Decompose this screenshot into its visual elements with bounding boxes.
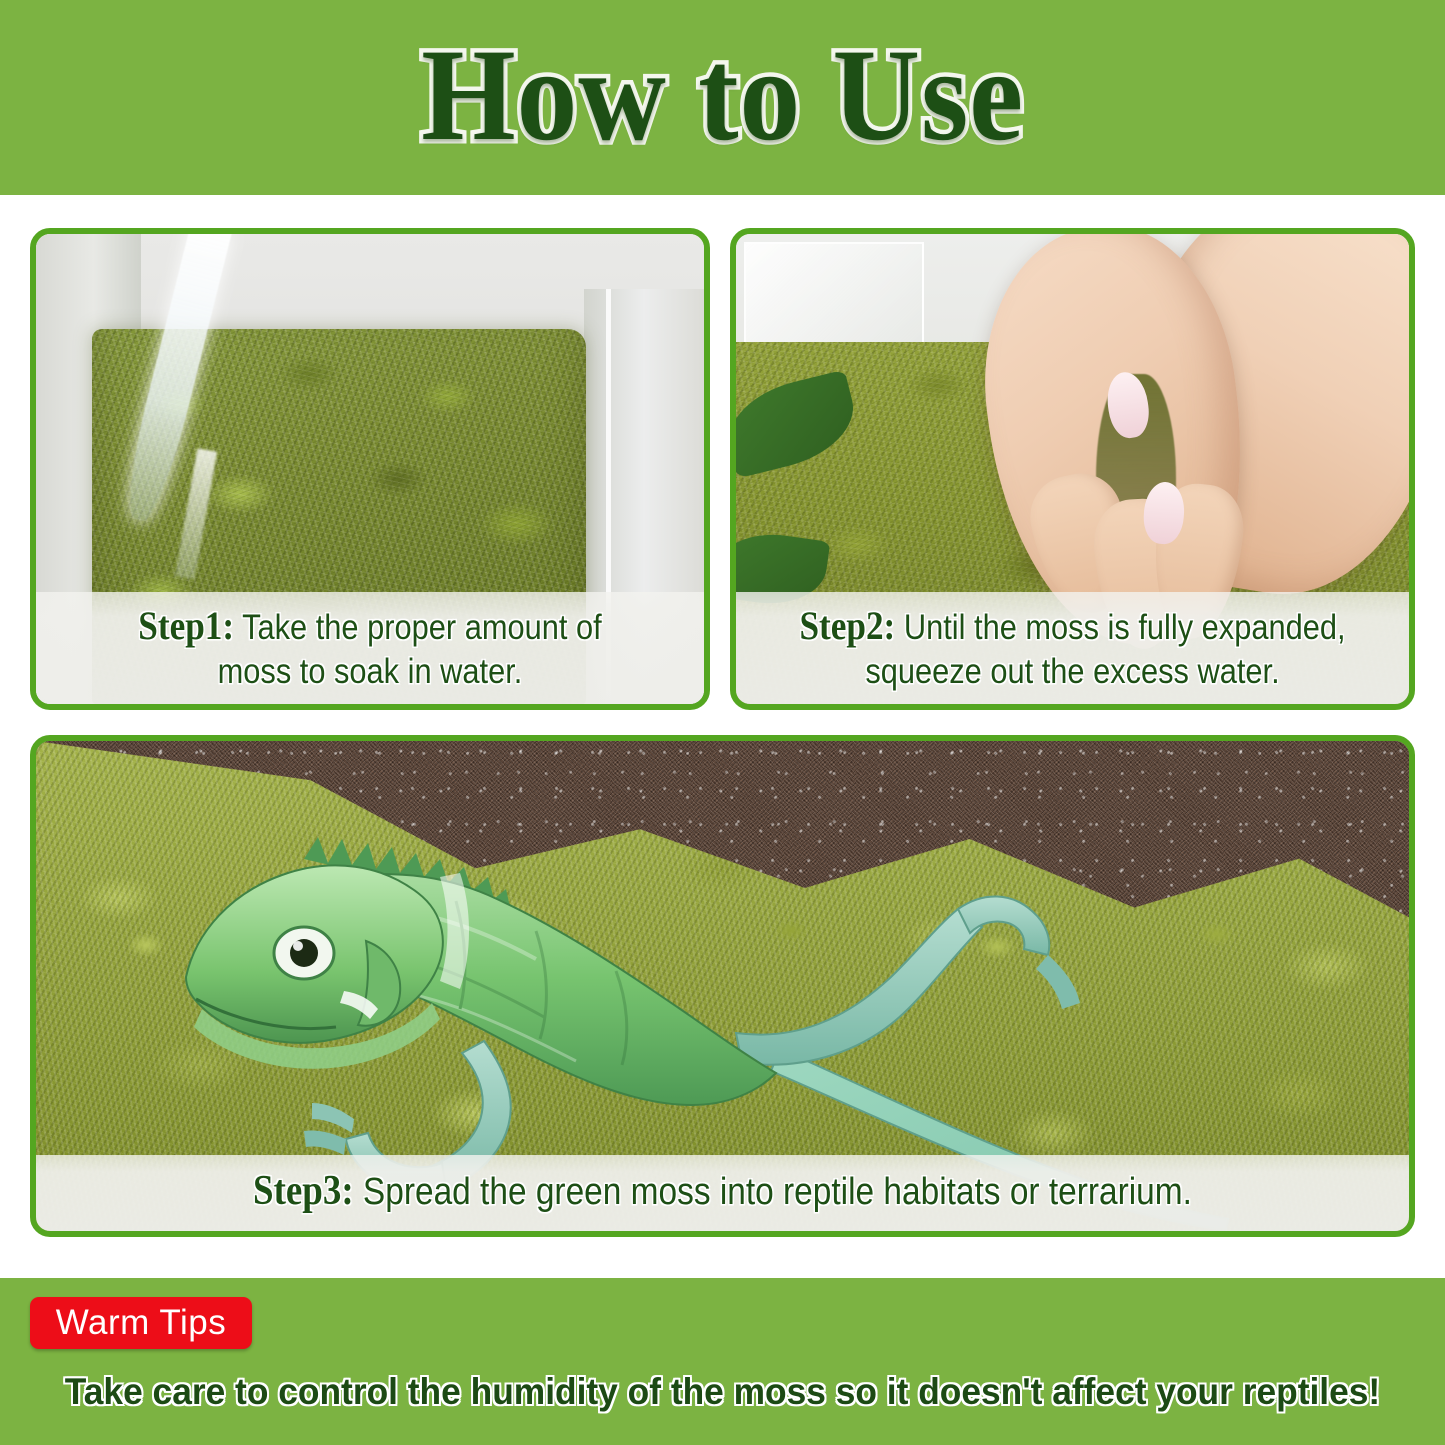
lizard-toe	[1036, 955, 1080, 1009]
step-2-label: Step2:	[799, 603, 895, 648]
step-2-text-line-1: Until the moss is fully expanded,	[904, 608, 1346, 647]
lizard-rear-leg	[736, 909, 982, 1065]
step-1-caption: Step1: Take the proper amount of moss to…	[36, 592, 704, 704]
step-1-text-line-1: Take the proper amount of	[242, 608, 602, 647]
step-3-caption-line-1: Step3: Spread the green moss into reptil…	[253, 1166, 1192, 1217]
step-2-caption: Step2: Until the moss is fully expanded,…	[736, 592, 1409, 704]
step-2-caption-line-1: Step2: Until the moss is fully expanded,	[789, 602, 1357, 651]
step-1-caption-line-2: moss to soak in water.	[88, 651, 651, 694]
step-card-2: Step2: Until the moss is fully expanded,…	[730, 228, 1415, 710]
footer-banner: Warm Tips Take care to control the humid…	[0, 1278, 1445, 1445]
step-3-label: Step3:	[253, 1168, 354, 1214]
lizard-rear-foot	[958, 896, 1049, 955]
lizard-eye-glint	[293, 941, 303, 951]
step-1-caption-line-1: Step1: Take the proper amount of	[88, 602, 651, 651]
step-2-caption-line-2: squeeze out the excess water.	[789, 651, 1357, 694]
step-1-label: Step1:	[138, 603, 234, 648]
warm-tips-text: Take care to control the humidity of the…	[33, 1371, 1413, 1413]
lizard-toe	[312, 1103, 354, 1133]
step-3-caption: Step3: Spread the green moss into reptil…	[36, 1155, 1409, 1231]
step-3-text-line-1: Spread the green moss into reptile habit…	[363, 1171, 1192, 1213]
header-banner: How to Use	[0, 0, 1445, 195]
lizard-toe	[304, 1130, 346, 1155]
page-title: How to Use	[421, 29, 1024, 161]
step-card-1: Step1: Take the proper amount of moss to…	[30, 228, 710, 710]
warm-tips-badge: Warm Tips	[30, 1297, 252, 1349]
step-card-3: Step3: Spread the green moss into reptil…	[30, 735, 1415, 1237]
